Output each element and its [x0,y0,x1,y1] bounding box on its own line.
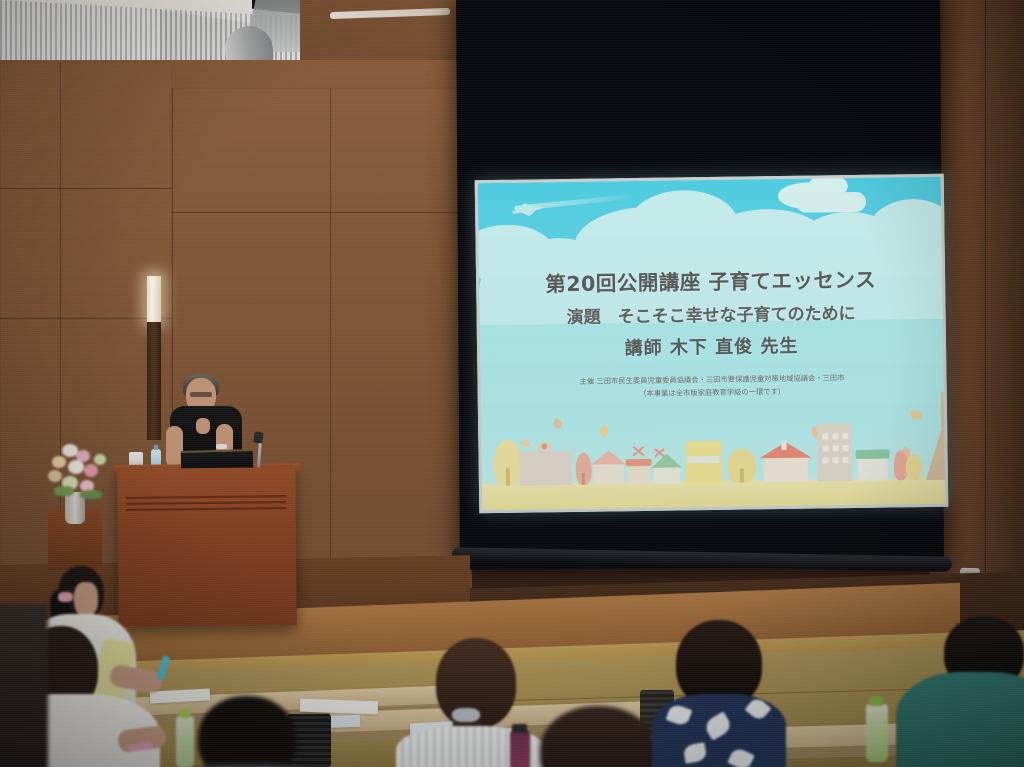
town-illustration [481,408,945,510]
flower [84,464,98,477]
drink-bottle [866,704,888,762]
flower [94,454,106,465]
flower [68,460,84,474]
bottle-cap [512,724,527,733]
wooden-lectern [117,467,297,627]
speaker-hand [196,418,210,434]
projected-slide: 第20回公開講座 子育てエッセンス 演題 そこそこ幸せな子育てのために 講師 木… [475,174,949,514]
bottle-cap [869,697,883,706]
window [833,457,839,463]
lecture-hall-photo: 第20回公開講座 子育てエッセンス 演題 そこそこ幸せな子育てのために 講師 木… [0,0,1024,767]
slide-title: 第20回公開講座 子育てエッセンス [479,262,942,298]
hair-tie [452,708,480,722]
cloud-icon [796,192,866,213]
tree-icon [906,454,922,480]
drink-bottle [176,716,194,767]
tree-trunk [740,469,744,483]
apartment-building-icon [817,423,852,481]
wall-seam [172,212,472,213]
wall-sconce-light-icon [147,276,161,322]
house-icon [654,465,680,483]
slide-text-block: 第20回公開講座 子育てエッセンス 演題 そこそこ幸せな子育てのために 講師 木… [479,262,944,402]
torso [896,672,1024,767]
hair-tie [58,592,73,602]
wall-seam [60,62,61,582]
window [832,433,838,439]
flower [52,456,66,468]
house-icon [628,464,650,484]
chimney [781,441,786,450]
window [822,445,828,451]
airplane-icon [506,204,542,215]
house-roof [856,450,890,459]
face [74,582,98,616]
wristwatch-icon [216,444,227,449]
head [198,696,296,767]
falling-leaf-icon [552,418,563,429]
window [823,457,829,463]
tree-trunk [582,473,585,485]
slide-subtitle: 演題 そこそこ幸せな子育てのために [479,298,942,329]
house-roof [626,459,652,466]
school-building-icon [519,451,571,486]
shop-sign [688,456,720,463]
falling-leaf-icon [520,438,531,449]
torso [0,604,48,767]
tree-trunk [506,468,510,486]
foliage [80,490,102,499]
drink-bottle [510,730,530,767]
window [843,457,849,463]
slide-speaker: 講師 木下 直俊 先生 [480,330,943,362]
wall-seam [330,88,331,588]
falling-leaf-icon [910,409,922,421]
flower-arrangement [46,444,108,502]
handout-papers [300,699,378,715]
foliage [54,486,74,496]
clock-icon [541,443,547,449]
bottle-cap [179,709,190,718]
microphone-head [253,431,263,443]
house-icon [594,462,624,484]
window [832,445,838,451]
wall-seam [985,0,986,620]
flower [48,470,62,482]
house-icon [858,457,888,481]
sconce-column [147,322,161,440]
window [842,445,848,451]
house-icon [764,456,808,483]
tower-spire [941,392,946,428]
window [822,433,828,439]
wall-seam [0,188,172,189]
house-roof [591,450,625,464]
window [842,433,848,439]
glasses-icon [190,392,212,397]
falling-leaf-icon [597,425,610,438]
tower-icon [925,424,948,480]
